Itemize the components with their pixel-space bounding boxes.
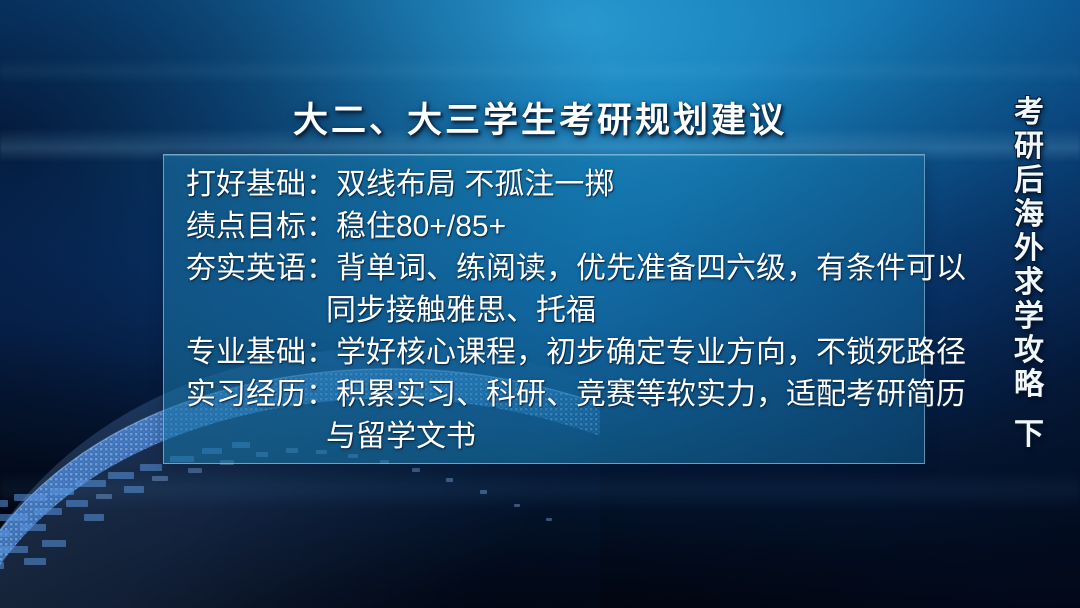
vertical-title-char: 考 bbox=[1008, 96, 1052, 130]
content-panel-body: 打好基础：双线布局 不孤注一掷 绩点目标：稳住80+/85+ 夯实英语：背单词、… bbox=[186, 164, 914, 458]
vertical-title-char: 略 bbox=[1008, 368, 1052, 402]
content-panel: 打好基础：双线布局 不孤注一掷 绩点目标：稳住80+/85+ 夯实英语：背单词、… bbox=[163, 154, 925, 464]
vertical-title-char: 研 bbox=[1008, 130, 1052, 164]
advice-line: 实习经历：积累实习、科研、竞赛等软实力，适配考研简历 bbox=[186, 374, 914, 416]
vertical-title-char: 外 bbox=[1008, 232, 1052, 266]
advice-line: 打好基础：双线布局 不孤注一掷 bbox=[186, 164, 914, 206]
vertical-title-part-label: 下 bbox=[1008, 418, 1052, 452]
vertical-title-spacer bbox=[1008, 402, 1052, 418]
vertical-series-title: 考 研 后 海 外 求 学 攻 略 下 bbox=[1008, 96, 1052, 452]
advice-line: 绩点目标：稳住80+/85+ bbox=[186, 206, 914, 248]
advice-line: 专业基础：学好核心课程，初步确定专业方向，不锁死路径 bbox=[186, 332, 914, 374]
advice-line-continuation: 同步接触雅思、托福 bbox=[186, 290, 914, 332]
vertical-title-char: 后 bbox=[1008, 164, 1052, 198]
advice-line: 夯实英语：背单词、练阅读，优先准备四六级，有条件可以 bbox=[186, 248, 914, 290]
vertical-title-char: 求 bbox=[1008, 266, 1052, 300]
advice-line-continuation: 与留学文书 bbox=[186, 416, 914, 458]
slide-root: 大二、大三学生考研规划建议 打好基础：双线布局 不孤注一掷 绩点目标：稳住80+… bbox=[0, 0, 1080, 608]
page-title: 大二、大三学生考研规划建议 bbox=[0, 92, 1080, 143]
vertical-title-char: 攻 bbox=[1008, 334, 1052, 368]
vertical-title-char: 海 bbox=[1008, 198, 1052, 232]
vertical-title-char: 学 bbox=[1008, 300, 1052, 334]
